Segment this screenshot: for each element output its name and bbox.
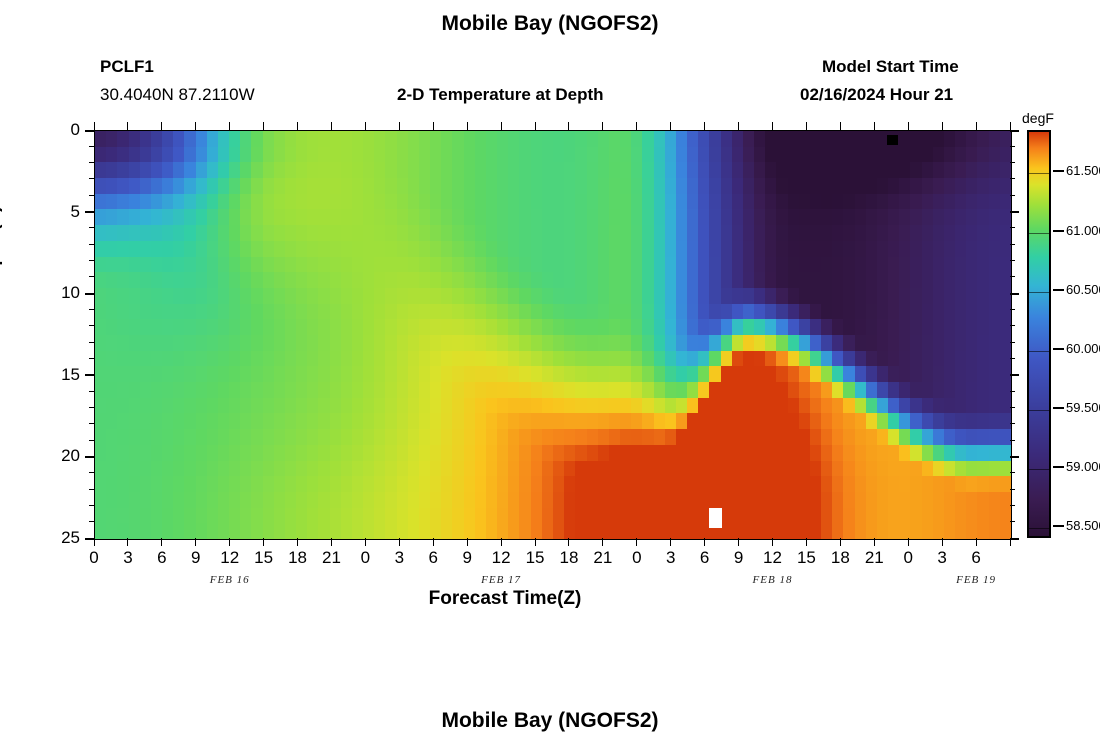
x-axis-tick-top: [670, 122, 671, 130]
y-axis-tick-right: [1010, 276, 1015, 277]
x-axis-tick: [772, 538, 773, 546]
colorbar-division: [1029, 469, 1049, 470]
y-axis-minor-tick: [89, 276, 94, 277]
x-axis-tick-top: [568, 122, 569, 130]
y-axis-tick-right: [1010, 309, 1015, 310]
y-axis-tick-right: [1010, 538, 1019, 540]
x-axis-label: 3: [110, 548, 146, 568]
x-axis-label: 6: [415, 548, 451, 568]
x-axis-label: 9: [449, 548, 485, 568]
x-axis-tick: [942, 538, 943, 546]
x-axis-tick: [195, 538, 196, 546]
y-axis-minor-tick: [89, 440, 94, 441]
x-axis-tick: [127, 538, 128, 546]
y-axis-tick-right: [1010, 130, 1019, 132]
x-axis-tick-top: [263, 122, 264, 130]
colorbar-tick-label: 59.500: [1066, 400, 1100, 415]
x-axis-tick: [670, 538, 671, 546]
y-axis-minor-tick: [89, 227, 94, 228]
x-axis-tick-top: [331, 122, 332, 130]
y-axis-minor-tick: [89, 505, 94, 506]
x-axis-label: 18: [822, 548, 858, 568]
x-axis-label: 3: [653, 548, 689, 568]
y-axis-minor-tick: [89, 521, 94, 522]
x-axis-tick-top: [976, 122, 977, 130]
y-axis-tick-right: [1010, 423, 1015, 424]
y-axis-tick-right: [1010, 227, 1015, 228]
x-axis-tick-top: [297, 122, 298, 130]
heatmap-plot-area: [94, 130, 1012, 540]
y-axis-major-tick: [85, 293, 94, 295]
y-axis-label: 0: [36, 120, 80, 140]
y-axis-tick-right: [1010, 178, 1015, 179]
x-axis-day-label: FEB 17: [456, 574, 546, 586]
y-axis-tick-right: [1010, 293, 1019, 295]
x-axis-label: 0: [619, 548, 655, 568]
x-axis-tick: [161, 538, 162, 546]
y-axis-minor-tick: [89, 178, 94, 179]
x-axis-tick-top: [535, 122, 536, 130]
x-axis-label: 21: [856, 548, 892, 568]
y-axis-tick-right: [1010, 440, 1015, 441]
y-axis-tick-right: [1010, 211, 1019, 213]
x-axis-tick-top: [399, 122, 400, 130]
colorbar-tick-label: 61.000: [1066, 223, 1100, 238]
colorbar-tick: [1053, 348, 1064, 350]
y-axis-minor-tick: [89, 342, 94, 343]
x-axis-label: 6: [958, 548, 994, 568]
x-axis-tick: [908, 538, 909, 546]
y-axis-tick-right: [1010, 391, 1015, 392]
x-axis-label: 9: [721, 548, 757, 568]
x-axis-label: 15: [517, 548, 553, 568]
x-axis-tick: [636, 538, 637, 546]
y-axis-minor-tick: [89, 472, 94, 473]
x-axis-tick-top: [636, 122, 637, 130]
colorbar-tick: [1053, 170, 1064, 172]
x-axis-tick: [229, 538, 230, 546]
x-axis-tick: [365, 538, 366, 546]
x-axis-label: 15: [788, 548, 824, 568]
x-axis-tick-top: [365, 122, 366, 130]
colorbar-units-label: degF: [1022, 110, 1054, 126]
colorbar-tick-label: 60.000: [1066, 341, 1100, 356]
x-axis-tick: [263, 538, 264, 546]
x-axis-label: 18: [280, 548, 316, 568]
x-axis-tick: [568, 538, 569, 546]
y-axis-minor-tick: [89, 260, 94, 261]
x-axis-tick-top: [433, 122, 434, 130]
observation-marker: [887, 135, 898, 145]
x-axis-tick-top: [772, 122, 773, 130]
x-axis-tick-top: [704, 122, 705, 130]
x-axis-label: 3: [924, 548, 960, 568]
x-axis-label: 6: [687, 548, 723, 568]
x-axis-tick: [501, 538, 502, 546]
y-axis-tick-right: [1010, 260, 1015, 261]
chart-subtitle: 2-D Temperature at Depth: [397, 85, 604, 105]
x-axis-label: 0: [347, 548, 383, 568]
x-axis-label: 9: [178, 548, 214, 568]
x-axis-tick-top: [738, 122, 739, 130]
y-axis-label: 20: [36, 446, 80, 466]
x-axis-tick: [331, 538, 332, 546]
y-axis-major-tick: [85, 130, 94, 132]
y-axis-major-tick: [85, 211, 94, 213]
x-axis-day-label: FEB 18: [728, 574, 818, 586]
x-axis-tick: [535, 538, 536, 546]
colorbar-division: [1029, 528, 1049, 529]
y-axis-label: 25: [36, 528, 80, 548]
y-axis-minor-tick: [89, 162, 94, 163]
x-axis-tick-top: [161, 122, 162, 130]
colorbar: [1027, 130, 1051, 538]
x-axis-label: 6: [144, 548, 180, 568]
station-coordinates-label: 30.4040N 87.2110W: [100, 85, 255, 105]
x-axis-title: Forecast Time(Z): [0, 588, 1010, 610]
x-axis-label: 21: [585, 548, 621, 568]
y-axis-tick-right: [1010, 521, 1015, 522]
y-axis-minor-tick: [89, 309, 94, 310]
x-axis-tick-top: [806, 122, 807, 130]
y-axis-minor-tick: [89, 489, 94, 490]
x-axis-label: 15: [246, 548, 282, 568]
missing-data-marker: [709, 508, 722, 528]
x-axis-tick-top: [127, 122, 128, 130]
y-axis-tick-right: [1010, 244, 1015, 245]
colorbar-division: [1029, 233, 1049, 234]
x-axis-tick-top: [602, 122, 603, 130]
y-axis-tick-right: [1010, 505, 1015, 506]
x-axis-tick-top: [195, 122, 196, 130]
y-axis-label: 5: [36, 202, 80, 222]
x-axis-label: 18: [551, 548, 587, 568]
x-axis-day-label: FEB 16: [185, 574, 275, 586]
colorbar-tick: [1053, 230, 1064, 232]
x-axis-tick: [602, 538, 603, 546]
y-axis-minor-tick: [89, 195, 94, 196]
y-axis-minor-tick: [89, 244, 94, 245]
y-axis-tick-right: [1010, 472, 1015, 473]
colorbar-tick: [1053, 407, 1064, 409]
y-axis-minor-tick: [89, 146, 94, 147]
y-axis-major-tick: [85, 538, 94, 540]
x-axis-day-label: FEB 19: [931, 574, 1021, 586]
y-axis-major-tick: [85, 456, 94, 458]
y-axis-tick-right: [1010, 195, 1015, 196]
y-axis-tick-right: [1010, 407, 1015, 408]
x-axis-tick: [806, 538, 807, 546]
y-axis-minor-tick: [89, 358, 94, 359]
colorbar-gradient: [1027, 130, 1051, 538]
y-axis-minor-tick: [89, 325, 94, 326]
x-axis-tick: [874, 538, 875, 546]
colorbar-tick-label: 60.500: [1066, 282, 1100, 297]
x-axis-tick: [738, 538, 739, 546]
colorbar-division: [1029, 410, 1049, 411]
x-axis-tick-top: [942, 122, 943, 130]
x-axis-label: 3: [381, 548, 417, 568]
colorbar-tick: [1053, 289, 1064, 291]
x-axis-tick: [433, 538, 434, 546]
page-title: Mobile Bay (NGOFS2): [0, 12, 1100, 36]
colorbar-division: [1029, 173, 1049, 174]
y-axis-minor-tick: [89, 391, 94, 392]
x-axis-label: 21: [313, 548, 349, 568]
x-axis-tick-top: [229, 122, 230, 130]
x-axis-tick-top: [874, 122, 875, 130]
colorbar-tick-label: 61.500: [1066, 163, 1100, 178]
x-axis-tick: [399, 538, 400, 546]
x-axis-tick: [467, 538, 468, 546]
x-axis-label: 0: [76, 548, 112, 568]
y-axis-tick-right: [1010, 489, 1015, 490]
x-axis-tick: [297, 538, 298, 546]
y-axis-tick-right: [1010, 342, 1015, 343]
x-axis-tick-top: [501, 122, 502, 130]
station-id-label: PCLF1: [100, 57, 154, 77]
x-axis-label: 12: [755, 548, 791, 568]
colorbar-tick-label: 58.500: [1066, 518, 1100, 533]
y-axis-major-tick: [85, 374, 94, 376]
y-axis-label: 10: [36, 283, 80, 303]
x-axis-tick-top: [908, 122, 909, 130]
y-axis-tick-right: [1010, 456, 1019, 458]
y-axis-tick-right: [1010, 374, 1019, 376]
y-axis-title: Depth (ft): [0, 206, 4, 290]
model-start-time-label: Model Start Time: [822, 57, 959, 77]
x-axis-tick-top: [467, 122, 468, 130]
y-axis-tick-right: [1010, 162, 1015, 163]
x-axis-tick: [704, 538, 705, 546]
model-start-time-value: 02/16/2024 Hour 21: [800, 85, 953, 105]
colorbar-division: [1029, 351, 1049, 352]
x-axis-tick: [976, 538, 977, 546]
temperature-heatmap: [95, 131, 1011, 539]
x-axis-tick: [840, 538, 841, 546]
y-axis-minor-tick: [89, 423, 94, 424]
y-axis-tick-right: [1010, 146, 1015, 147]
y-axis-minor-tick: [89, 407, 94, 408]
y-axis-tick-right: [1010, 325, 1015, 326]
colorbar-tick: [1053, 525, 1064, 527]
footer-title: Mobile Bay (NGOFS2): [0, 709, 1100, 733]
colorbar-tick: [1053, 466, 1064, 468]
chart-page: Mobile Bay (NGOFS2) PCLF1 30.4040N 87.21…: [0, 0, 1100, 750]
colorbar-tick-label: 59.000: [1066, 459, 1100, 474]
x-axis-tick-top: [840, 122, 841, 130]
x-axis-label: 12: [483, 548, 519, 568]
x-axis-label: 0: [890, 548, 926, 568]
colorbar-division: [1029, 292, 1049, 293]
y-axis-label: 15: [36, 365, 80, 385]
x-axis-label: 12: [212, 548, 248, 568]
y-axis-tick-right: [1010, 358, 1015, 359]
